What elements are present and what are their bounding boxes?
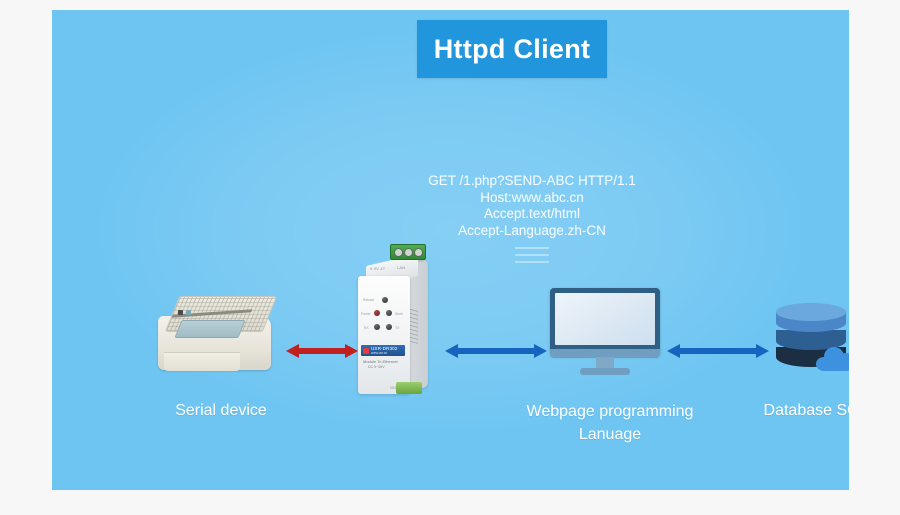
http-request-text: GET /1.php?SEND-ABC HTTP/1.1 Host:www.ab… [400,173,664,239]
green-terminal-block [390,244,426,260]
diagram-canvas: Httpd Client GET /1.php?SEND-ABC HTTP/1.… [0,0,900,515]
caption-web-line1: Webpage programming [527,403,694,420]
monitor-bezel [550,288,660,356]
module-work-led [386,310,392,316]
module-tx-led-label: TX [395,326,399,330]
http-line-1: GET /1.php?SEND-ABC HTTP/1.1 [400,173,664,190]
arrow-serial-to-server [286,340,358,362]
module-power-led-label: Power [361,312,371,316]
arrow-web-to-db [667,340,769,362]
module-power-led [374,310,380,316]
arrow-server-to-web [445,340,547,362]
module-rail-clip-bottom [396,382,422,394]
http-line-4: Accept-Language.zh-CN [400,223,664,240]
http-line-3: Accept.text/html [400,206,664,223]
page-title: Httpd Client [434,34,591,65]
module-reload-label: Reload [363,298,374,302]
caption-web-line2: Lanuage [579,426,641,443]
caption-serial-device: Serial device [116,402,326,420]
http-line-2: Host:www.abc.cn [400,190,664,207]
monitor-screen [555,293,655,345]
printer-icon [156,290,276,372]
module-power-port-label: 5 9V 4T [370,266,385,271]
din-rail-module-icon: 5 9V 4T LAN Reload Power Work RX TX USR-… [350,244,442,399]
monitor-icon [550,288,660,378]
database-top-lid [776,303,846,321]
monitor-base [580,368,630,375]
terminal-screw [394,248,403,257]
caption-webpage-programming: Webpage programming Lanuage [490,400,730,446]
truncation-dash [515,254,549,256]
module-rx-led [374,324,380,330]
module-brand-url: www.usr.cn [371,351,387,355]
truncation-dash [515,261,549,263]
printer-window [174,320,245,338]
printer-front-lip [164,352,240,371]
database-cloud-icon [770,295,849,381]
module-brand-badge: USR-DR302 www.usr.cn [361,345,405,356]
module-front-face: Reload Power Work RX TX [358,276,410,394]
terminal-screw [414,248,423,257]
printer-button-blue [186,310,191,315]
truncation-dash [515,247,549,249]
cloud-base [820,362,849,371]
terminal-screw [404,248,413,257]
module-lan-port-label: LAN [397,265,405,270]
brand-mark-icon [363,348,369,354]
module-work-led-label: Work [395,312,403,316]
module-tx-led [386,324,392,330]
printer-button-dark [178,310,183,315]
cloud-icon [816,345,849,371]
module-rx-led-label: RX [364,326,369,330]
diagram-panel: Httpd Client GET /1.php?SEND-ABC HTTP/1.… [52,10,849,490]
caption-database-sql: Database SQL [726,402,849,420]
module-model-line: Module To Ethernet [363,359,398,364]
module-voltage-line: DC 5~36V [368,365,385,369]
module-reload-button [382,297,388,303]
title-banner: Httpd Client [417,20,607,78]
